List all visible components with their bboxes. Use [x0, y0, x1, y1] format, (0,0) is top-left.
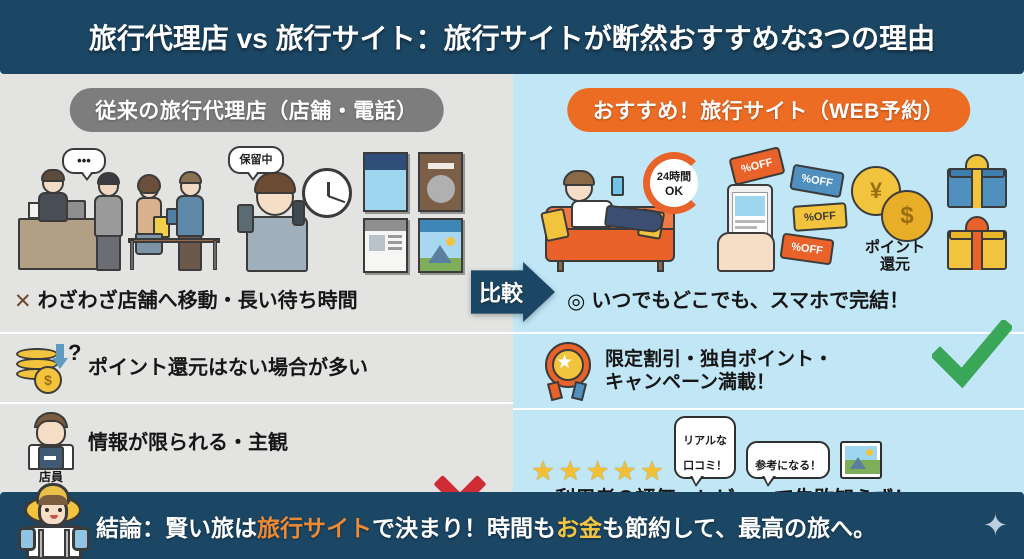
customer1-hair — [97, 172, 120, 185]
clerk-body — [38, 192, 68, 222]
left-row-1: ✕ わざわざ店舗へ移動・長い待ち時間 — [0, 270, 513, 332]
coins-down-question-icon: $ ? — [14, 340, 88, 396]
24h-badge-icon: 24時間 OK — [643, 152, 705, 214]
stanchion-right — [213, 240, 217, 270]
phone-screen-image — [735, 196, 765, 216]
relaxing-person-hair — [563, 170, 595, 186]
customer2-hair — [137, 174, 161, 194]
discount-tag-4-label: %OFF — [790, 241, 823, 257]
coin-dollar-icon: $ — [881, 190, 933, 242]
right-verdict-check-icon — [932, 320, 1012, 390]
discount-tag-2: %OFF — [789, 164, 845, 199]
left-verdict-x-icon — [429, 470, 491, 492]
hand — [717, 232, 775, 272]
phone-screen-line2 — [735, 226, 757, 229]
badge-line2: OK — [665, 184, 683, 198]
conclusion-part3: も節約して、最高の旅へ。 — [602, 515, 876, 541]
discount-tag-3: %OFF — [792, 202, 848, 232]
hold-bubble: 保留中 — [228, 146, 284, 174]
customer3-phone — [166, 208, 178, 225]
compare-arrow-label: 比較 — [471, 276, 523, 308]
discount-tag-2-label: %OFF — [800, 172, 833, 189]
phone-screen-line1 — [735, 220, 765, 223]
footer-bar: 結論：賢い旅は旅行サイトで決まり！時間もお金も節約して、最高の旅へ。 ✦ — [0, 492, 1024, 559]
discount-tag-1: %OFF — [728, 146, 785, 186]
conclusion-text: 結論：賢い旅は旅行サイトで決まり！時間もお金も節約して、最高の旅へ。 — [96, 509, 876, 543]
star-5: ★ — [640, 458, 664, 485]
brochure-mountain — [418, 218, 463, 273]
left-illustration: ••• — [0, 140, 513, 272]
customer1-legs — [96, 235, 121, 271]
clerk-hair — [41, 169, 65, 182]
badge-line1: 24時間 — [657, 168, 691, 184]
customer3-hair — [179, 171, 202, 184]
customer2-skirt — [135, 233, 163, 255]
right-row-2-line1: 限定割引・独自ポイント・ — [605, 349, 833, 370]
right-row-2-line2: キャンペーン満載！ — [605, 372, 775, 393]
star-1: ★ — [531, 458, 555, 485]
conclusion-highlight1: 旅行サイト — [257, 515, 372, 541]
discount-tag-3-label: %OFF — [804, 210, 837, 224]
gift-blue-icon — [947, 154, 1007, 208]
review-bubble-2-text: 参考になる！ — [755, 460, 821, 472]
star-rating-icon: ★ ★ ★ ★ ★ — [531, 458, 664, 485]
right-panel-header-label: おすすめ！旅行サイト（WEB予約） — [593, 95, 945, 125]
points-label: ポイント 還元 — [849, 240, 941, 274]
award-ribbon-icon: ★ — [539, 340, 601, 402]
coin-dollar-label: $ — [900, 202, 913, 230]
brochure-flight — [363, 152, 408, 212]
customer1-body — [94, 195, 123, 237]
left-panel-header-pill: 従来の旅行代理店（店舗・電話） — [69, 88, 444, 132]
clerk-avatar-icon: 店員 — [14, 410, 88, 476]
review-bubble-1-line2: 口コミ！ — [683, 460, 727, 472]
hiker-mascot-icon — [12, 475, 94, 559]
right-row-2-text: 限定割引・独自ポイント・ キャンペーン満載！ — [605, 348, 833, 394]
talk-bubble-text: ••• — [77, 154, 91, 168]
star-2: ★ — [558, 458, 582, 485]
queue-rope — [128, 238, 220, 243]
customer3-body — [176, 195, 204, 237]
cross-mark-icon: ✕ — [14, 289, 32, 314]
right-panel-header-pill: おすすめ！旅行サイト（WEB予約） — [567, 88, 971, 132]
left-row-1-text: わざわざ店舗へ移動・長い待ち時間 — [38, 289, 358, 313]
discount-tag-4: %OFF — [779, 233, 834, 266]
right-panel-travel-site: おすすめ！旅行サイト（WEB予約） — [513, 74, 1024, 492]
infographic-page: 旅行代理店 vs 旅行サイト：旅行サイトが断然おすすめな3つの理由 従来の旅行代… — [0, 0, 1024, 559]
brochure-brown — [418, 152, 463, 212]
discount-tag-1-label: %OFF — [740, 156, 774, 175]
review-visuals: ★ ★ ★ ★ ★ リアルな 口コミ！ 参考になる！ — [531, 416, 882, 485]
left-panel-travel-agency: 従来の旅行代理店（店舗・電話） ••• — [0, 74, 513, 492]
header-bar: 旅行代理店 vs 旅行サイト：旅行サイトが断然おすすめな3つの理由 — [0, 0, 1024, 74]
conclusion-part2: で決まり！時間も — [372, 515, 556, 541]
right-row-3: ★ ★ ★ ★ ★ リアルな 口コミ！ 参考になる！ — [513, 408, 1024, 492]
review-bubble-1-line1: リアルな — [683, 435, 727, 447]
right-row-1-text: いつでもどこでも、スマホで完結！ — [591, 289, 909, 313]
hold-bubble-text: 保留中 — [240, 154, 273, 166]
star-3: ★ — [585, 458, 609, 485]
check-svg — [932, 320, 1012, 390]
points-label-line1: ポイント — [865, 239, 925, 256]
star-4: ★ — [613, 458, 637, 485]
page-title: 旅行代理店 vs 旅行サイト：旅行サイトが断然おすすめな3つの理由 — [89, 17, 935, 57]
wall-clock-icon — [302, 168, 352, 218]
gift-yellow-icon — [947, 216, 1007, 270]
review-bubble-1: リアルな 口コミ！ — [674, 416, 736, 479]
left-panel-header-label: 従来の旅行代理店（店舗・電話） — [95, 95, 418, 125]
photo-gallery-icon — [840, 441, 882, 479]
left-bullet-list: ✕ わざわざ店舗へ移動・長い待ち時間 $ ? ポイント還元はない場合が多い — [0, 270, 513, 482]
caller-handset — [292, 200, 305, 226]
review-bubble-2: 参考になる！ — [746, 441, 830, 478]
sparkle-icon: ✦ — [983, 508, 1008, 543]
stanchion-left — [130, 240, 134, 270]
coin-yen-label: ¥ — [870, 178, 882, 204]
conclusion-part1: 結論：賢い旅は — [96, 515, 257, 541]
left-row-2-text: ポイント還元はない場合が多い — [88, 356, 368, 380]
double-circle-icon: ◎ — [567, 289, 585, 314]
caller-smartphone — [237, 204, 254, 233]
compare-arrow-badge: 比較 — [471, 262, 555, 322]
brochure-news — [363, 218, 408, 273]
caller-hair — [254, 172, 296, 194]
talk-bubble: ••• — [62, 148, 106, 174]
left-row-3-text: 情報が限られる・主観 — [88, 431, 288, 455]
conclusion-highlight2: お金 — [556, 515, 602, 541]
right-illustration: 24時間 OK %OFF %OFF %OFF %OFF — [513, 140, 1024, 272]
left-row-2: $ ? ポイント還元はない場合が多い — [0, 332, 513, 402]
relaxing-person-phone — [611, 176, 624, 196]
